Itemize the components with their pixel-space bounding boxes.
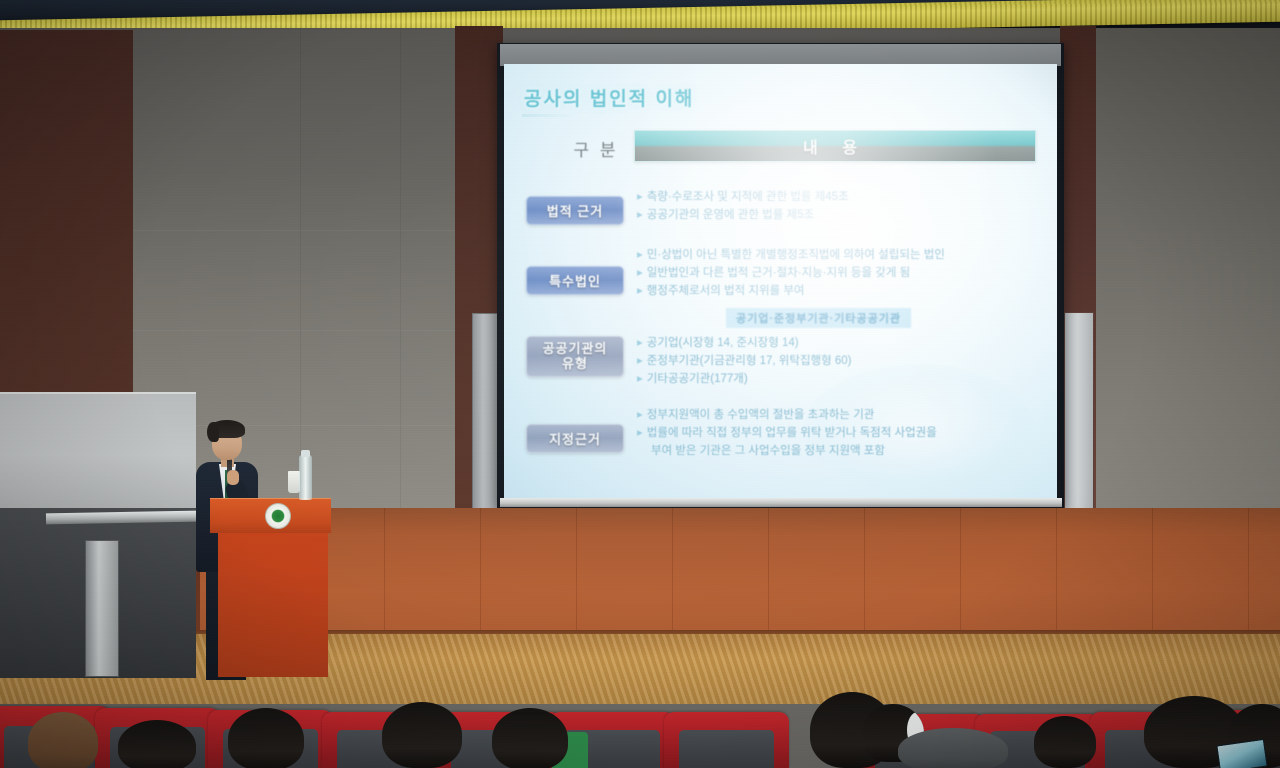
slide-bullet: ▸기타공공기관(177개) bbox=[637, 370, 852, 388]
control-desk-panel bbox=[85, 540, 119, 677]
slide-bullet: ▸공공기관의 운영에 관한 법률 제5조 bbox=[637, 206, 849, 224]
water-bottle-cap bbox=[301, 450, 310, 457]
slide-bullet: ▸법률에 따라 직접 정부의 업무를 위탁 받거나 독점적 사업권을 bbox=[637, 424, 937, 442]
slide-row-tag: 특수법인 bbox=[526, 266, 624, 295]
wall-strip-panel-right bbox=[1064, 312, 1094, 514]
slide-bullet: ▸준정부기관(기금관리형 17, 위탁집행형 60) bbox=[637, 352, 852, 370]
slide-title-underline bbox=[522, 114, 588, 117]
projection-screen-surface: 공사의 법인적 이해 구 분 내 용 법적 근거 ▸측량·수로조사 및 지적에 … bbox=[504, 64, 1057, 500]
slide-bullet: ▸정부지원액이 총 수입액의 절반을 초과하는 기관 bbox=[637, 406, 937, 424]
slide-row-tag: 지정근거 bbox=[526, 424, 624, 453]
audience-head-hooded bbox=[898, 728, 1008, 768]
wall-seam-vertical bbox=[400, 28, 401, 508]
slide-bullet-continuation: 부여 받은 기관은 그 사업수입을 정부 지원액 포함 bbox=[637, 442, 937, 460]
slide-bullet: ▸민·상법이 아닌 특별한 개별행정조직법에 의하여 설립되는 법인 bbox=[637, 246, 945, 264]
slide-row-bullets: ▸측량·수로조사 및 지적에 관한 법률 제45조 ▸공공기관의 운영에 관한 … bbox=[637, 188, 849, 224]
slide-bullet: ▸공기업(시장형 14, 준시장형 14) bbox=[637, 334, 852, 352]
slide-bullet: ▸일반법인과 다른 법적 근거·절차·지능·지위 등을 갖게 됨 bbox=[637, 264, 945, 282]
audience-head bbox=[492, 708, 568, 768]
slide-row-subheading: 공기업·준정부기관·기타공공기관 bbox=[726, 308, 911, 328]
projection-screen-roller bbox=[500, 44, 1061, 66]
slide-row-tag-line1: 공공기관의 bbox=[543, 341, 608, 356]
slide-bullet: ▸행정주체로서의 법적 지위를 부여 bbox=[637, 282, 945, 300]
projection-screen-bottom-bar bbox=[500, 498, 1062, 507]
audience-head bbox=[118, 720, 196, 768]
slide-bullet: ▸측량·수로조사 및 지적에 관한 법률 제45조 bbox=[637, 188, 849, 206]
back-wall-right bbox=[1096, 28, 1280, 528]
audience-head bbox=[1034, 716, 1096, 768]
audience-head bbox=[28, 712, 98, 768]
wall-strip-panel-left bbox=[472, 313, 499, 515]
slide-row-tag: 법적 근거 bbox=[526, 196, 624, 225]
slide-row-tag: 공공기관의 유형 bbox=[526, 336, 624, 377]
slide-row-bullets: ▸공기업(시장형 14, 준시장형 14) ▸준정부기관(기금관리형 17, 위… bbox=[637, 334, 852, 388]
audience-head bbox=[228, 708, 304, 768]
water-bottle bbox=[299, 455, 312, 500]
audience-seat-back bbox=[679, 730, 774, 768]
speaker-hand bbox=[227, 470, 239, 485]
slide-column-header-right-label: 내 용 bbox=[803, 134, 867, 158]
speaker-hair-side bbox=[207, 422, 219, 442]
lecture-hall-photo: 공사의 법인적 이해 구 분 내 용 법적 근거 ▸측량·수로조사 및 지적에 … bbox=[0, 0, 1280, 768]
podium-emblem-icon bbox=[265, 503, 291, 529]
slide-title: 공사의 법인적 이해 bbox=[524, 84, 694, 111]
wall-seam-vertical bbox=[300, 28, 301, 508]
audience-area bbox=[0, 690, 1280, 768]
audience-head bbox=[382, 702, 462, 768]
wall-whiteboard-panel bbox=[0, 392, 196, 516]
audience-seat bbox=[664, 712, 789, 768]
slide-row-tag-line2: 유형 bbox=[562, 356, 588, 371]
slide-row-bullets: ▸정부지원액이 총 수입액의 절반을 초과하는 기관 ▸법률에 따라 직접 정부… bbox=[637, 406, 937, 460]
slide-row-bullets: ▸민·상법이 아닌 특별한 개별행정조직법에 의하여 설립되는 법인 ▸일반법인… bbox=[637, 246, 945, 300]
slide-column-header-right: 내 용 bbox=[634, 130, 1036, 162]
